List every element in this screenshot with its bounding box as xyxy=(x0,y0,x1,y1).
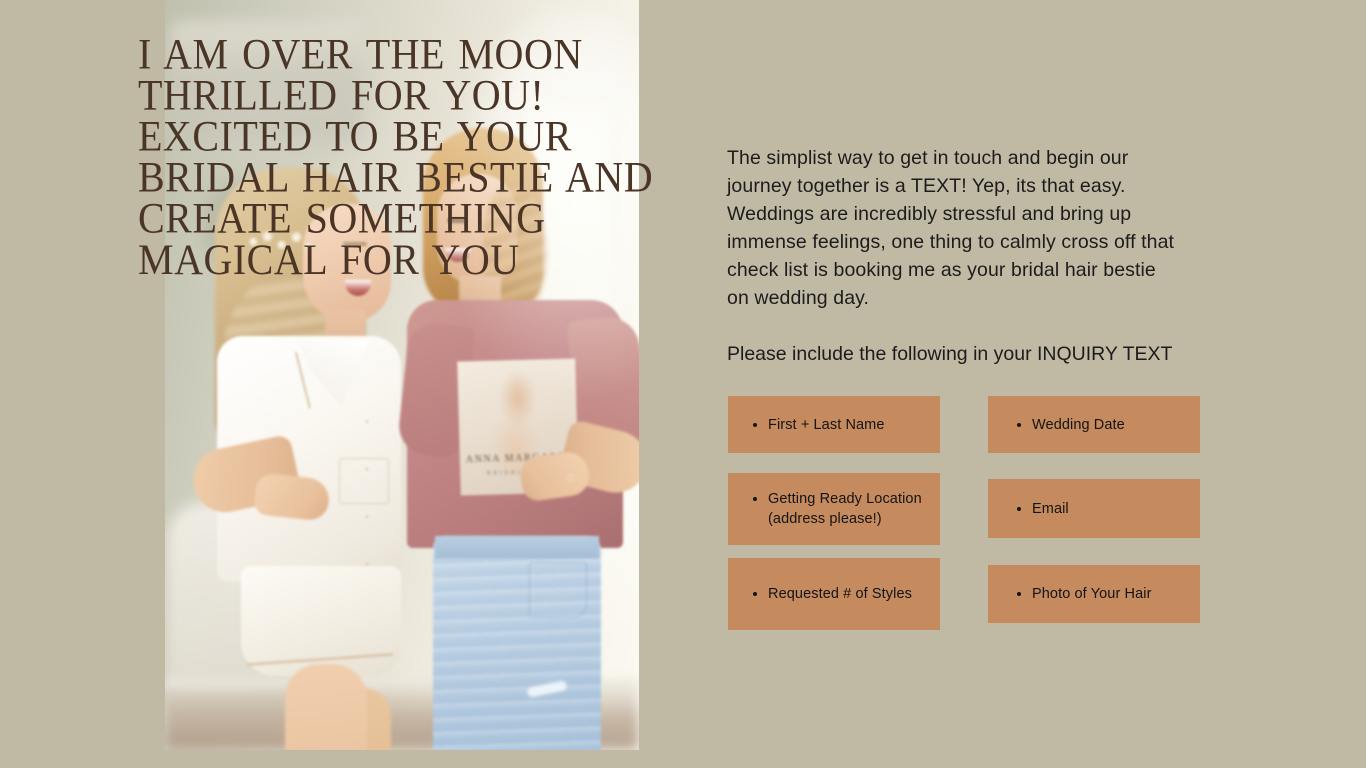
list-item: First + Last Name xyxy=(768,415,940,435)
stylist-ring xyxy=(567,474,574,481)
inquiry-box-wedding-date[interactable]: Wedding Date xyxy=(988,396,1200,453)
bullet-list: Requested # of Styles xyxy=(728,584,940,604)
list-item: Wedding Date xyxy=(1032,415,1200,435)
list-item: Email xyxy=(1032,499,1200,519)
inquiry-box-getting-ready-location[interactable]: Getting Ready Location (address please!) xyxy=(728,473,940,545)
intro-paragraph: The simplist way to get in touch and beg… xyxy=(727,144,1179,312)
bullet-list: First + Last Name xyxy=(728,415,940,435)
bride-leg-front xyxy=(285,664,367,750)
bullet-list: Photo of Your Hair xyxy=(988,584,1200,604)
stylist-jeans-pocket xyxy=(529,562,587,618)
inquiry-box-requested-styles[interactable]: Requested # of Styles xyxy=(728,558,940,630)
bullet-list: Email xyxy=(988,499,1200,519)
list-item: Requested # of Styles xyxy=(768,584,940,604)
stylist-jeans-waistband xyxy=(435,536,599,558)
slide-canvas: ANNA MARGARET BRIDAL HAIR I AM OVER THE … xyxy=(0,0,1366,768)
inquiry-box-first-last-name[interactable]: First + Last Name xyxy=(728,396,940,453)
bullet-list: Wedding Date xyxy=(988,415,1200,435)
page-headline: I AM OVER THE MOON THRILLED FOR YOU! EXC… xyxy=(138,34,718,280)
list-item: Getting Ready Location (address please!) xyxy=(768,489,940,529)
inquiry-instructions: Please include the following in your INQ… xyxy=(727,341,1197,367)
inquiry-box-photo-of-hair[interactable]: Photo of Your Hair xyxy=(988,565,1200,623)
list-item: Photo of Your Hair xyxy=(1032,584,1200,604)
inquiry-box-email[interactable]: Email xyxy=(988,479,1200,538)
bride-buttons xyxy=(363,408,371,578)
bullet-list: Getting Ready Location (address please!) xyxy=(728,489,940,529)
